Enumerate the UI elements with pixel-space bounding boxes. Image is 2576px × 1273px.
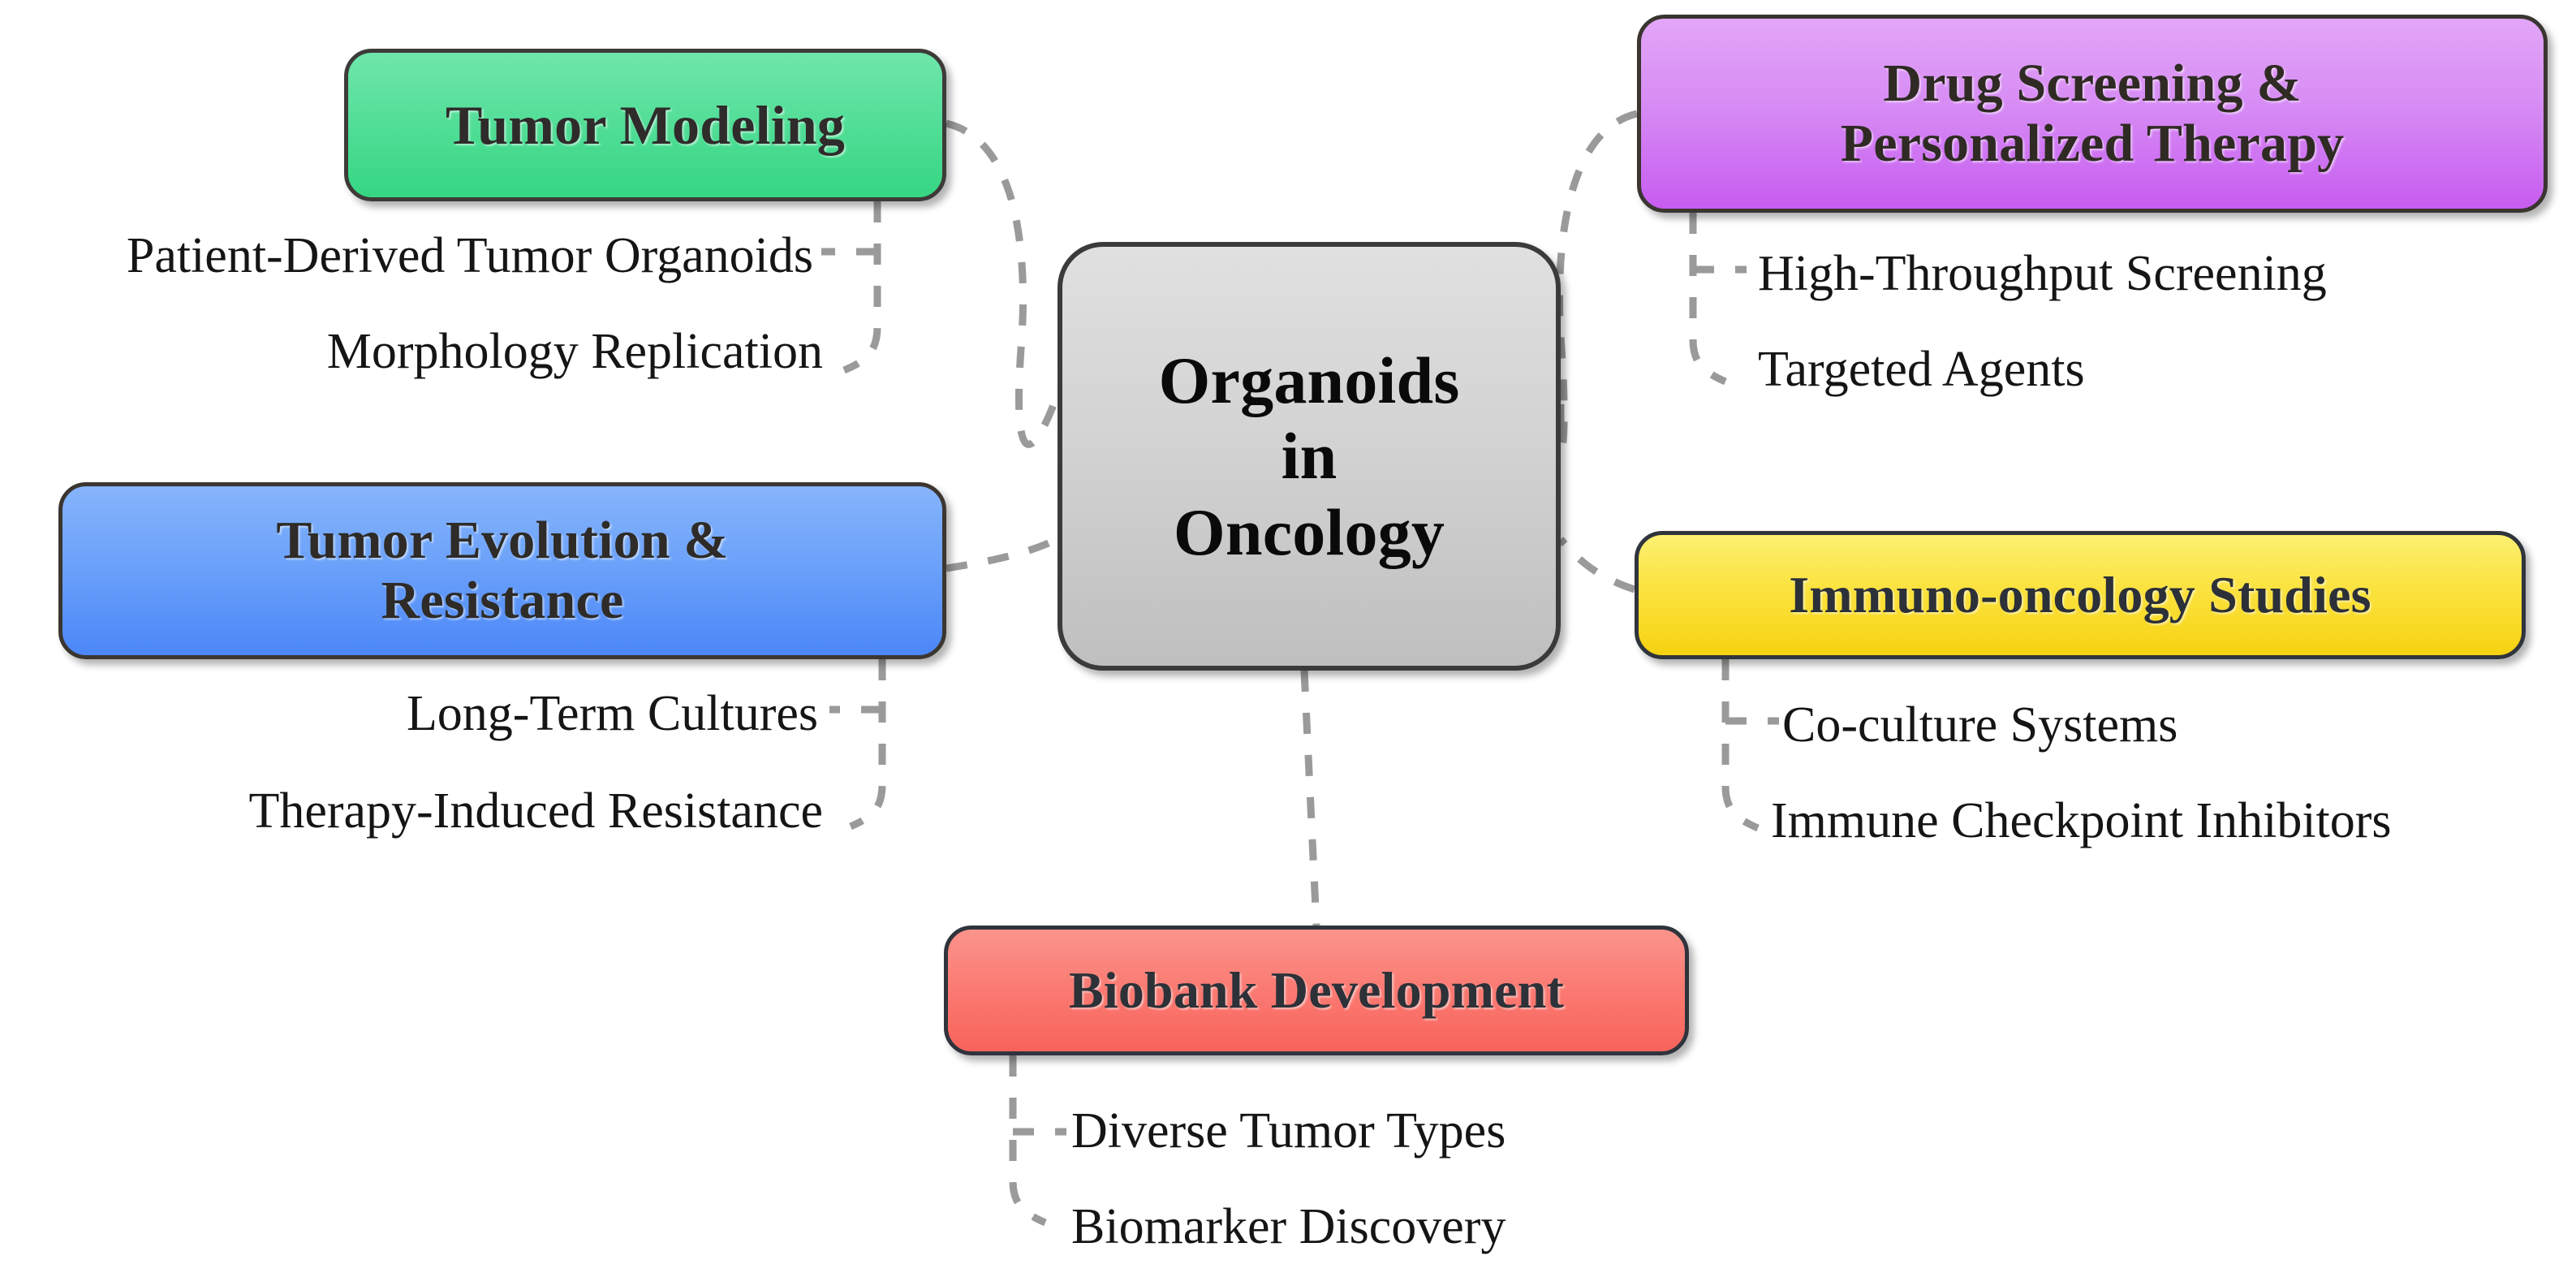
mindmap-canvas: Organoids in Oncology Tumor Modeling Dru… bbox=[0, 0, 2576, 1273]
connector-leaf-stem-tumor-modeling bbox=[844, 201, 877, 370]
connector-center-tumor-evolution bbox=[946, 539, 1058, 568]
center-node[interactable]: Organoids in Oncology bbox=[1058, 242, 1561, 671]
branch-node-biobank[interactable]: Biobank Development bbox=[944, 926, 1689, 1055]
leaf-label-immuno-oncology-0: Co-culture Systems bbox=[1782, 700, 2178, 750]
leaf-label-drug-screening-0: High-Throughput Screening bbox=[1758, 248, 2327, 299]
leaf-label-tumor-modeling-1: Morphology Replication bbox=[327, 326, 823, 377]
branch-node-tumor-evolution[interactable]: Tumor Evolution & Resistance bbox=[58, 482, 946, 659]
branch-node-drug-screening[interactable]: Drug Screening & Personalized Therapy bbox=[1637, 15, 2548, 213]
connector-center-biobank bbox=[1304, 671, 1316, 926]
connector-leaf-stem-immuno-oncology bbox=[1725, 659, 1758, 828]
leaf-label-tumor-evolution-1: Therapy-Induced Resistance bbox=[248, 786, 823, 836]
connector-leaf-stem-drug-screening bbox=[1693, 213, 1725, 382]
branch-node-tumor-modeling-label: Tumor Modeling bbox=[424, 94, 866, 156]
branch-node-tumor-modeling[interactable]: Tumor Modeling bbox=[344, 49, 946, 201]
leaf-label-tumor-evolution-0: Long-Term Cultures bbox=[407, 688, 818, 739]
branch-node-tumor-evolution-label: Tumor Evolution & Resistance bbox=[255, 511, 749, 631]
leaf-label-biobank-1: Biomarker Discovery bbox=[1071, 1202, 1506, 1252]
connector-center-immuno-oncology bbox=[1561, 539, 1635, 589]
branch-node-biobank-label: Biobank Development bbox=[1048, 961, 1585, 1020]
leaf-label-tumor-modeling-0: Patient-Derived Tumor Organoids bbox=[127, 231, 813, 281]
leaf-label-drug-screening-1: Targeted Agents bbox=[1758, 344, 2085, 395]
connector-center-drug-screening bbox=[1560, 114, 1637, 444]
branch-node-immuno-oncology-label: Immuno-oncology Studies bbox=[1768, 566, 2393, 624]
connector-center-tumor-modeling bbox=[946, 123, 1058, 444]
center-node-label: Organoids in Oncology bbox=[1138, 343, 1481, 570]
branch-node-drug-screening-label: Drug Screening & Personalized Therapy bbox=[1820, 54, 2366, 174]
branch-node-immuno-oncology[interactable]: Immuno-oncology Studies bbox=[1635, 531, 2526, 659]
connector-leaf-stem-biobank bbox=[1013, 1055, 1045, 1223]
connector-leaf-stem-tumor-evolution bbox=[851, 659, 882, 826]
leaf-label-biobank-0: Diverse Tumor Types bbox=[1071, 1106, 1506, 1156]
leaf-label-immuno-oncology-1: Immune Checkpoint Inhibitors bbox=[1771, 796, 2392, 846]
